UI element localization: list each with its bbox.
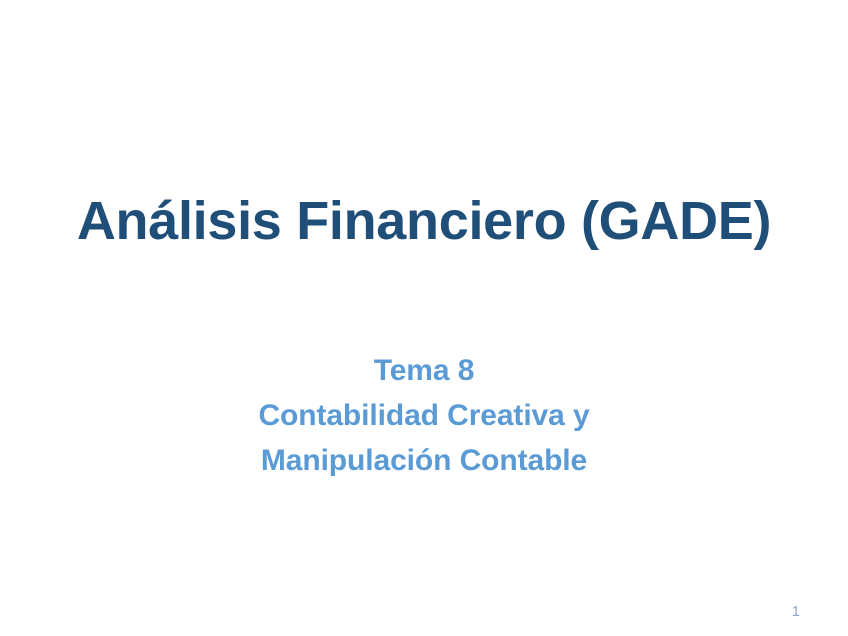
page-number: 1 — [792, 604, 800, 619]
slide-title: Análisis Financiero (GADE) — [0, 191, 848, 251]
slide-subtitle: Tema 8 Contabilidad Creativa y Manipulac… — [0, 348, 848, 483]
subtitle-line-second: Manipulación Contable — [0, 438, 848, 483]
presentation-slide: Análisis Financiero (GADE) Tema 8 Contab… — [0, 0, 848, 636]
subtitle-line-topic: Tema 8 — [0, 348, 848, 393]
subtitle-line-first: Contabilidad Creativa y — [0, 393, 848, 438]
